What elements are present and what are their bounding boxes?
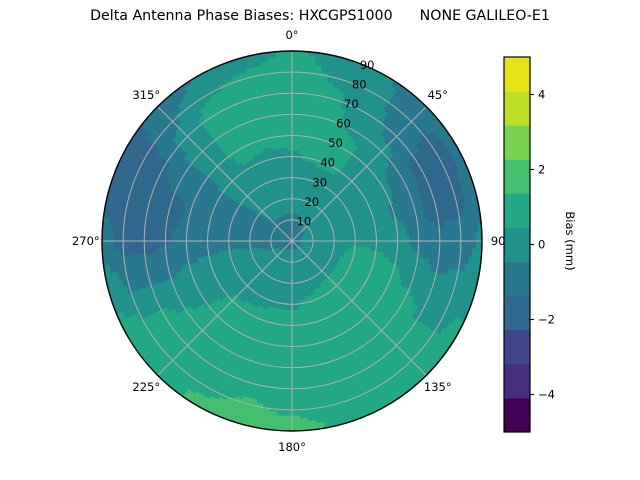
polar-cell xyxy=(470,233,473,241)
polar-cell xyxy=(289,316,292,319)
polar-cell xyxy=(286,383,292,386)
polar-cell xyxy=(286,374,292,377)
polar-cell xyxy=(473,241,476,249)
polar-cell xyxy=(370,241,373,245)
polar-cell xyxy=(292,334,296,337)
polar-cell xyxy=(292,78,299,81)
polar-cell xyxy=(379,241,382,245)
polar-cell xyxy=(443,241,446,248)
polar-cell xyxy=(406,236,409,241)
polar-cell xyxy=(292,117,297,120)
polar-cell xyxy=(292,60,300,63)
polar-cell xyxy=(288,340,292,343)
polar-cell xyxy=(391,241,394,245)
polar-cell xyxy=(292,340,296,343)
polar-cell xyxy=(286,380,292,383)
polar-cell xyxy=(287,359,292,362)
polar-cell xyxy=(413,236,416,241)
polar-cell xyxy=(284,422,292,425)
polar-cell xyxy=(449,234,452,241)
figure-canvas: Delta Antenna Phase Biases: HXCGPS1000 N… xyxy=(0,0,640,480)
polar-cell xyxy=(476,241,479,249)
polar-cell xyxy=(385,237,388,241)
polar-cell xyxy=(382,237,385,241)
polar-cell xyxy=(367,241,370,244)
polar-cell xyxy=(349,236,352,239)
polar-cell xyxy=(388,241,391,245)
polar-cell xyxy=(449,241,452,248)
polar-cell xyxy=(286,377,292,380)
polar-cell xyxy=(292,398,299,401)
polar-cell xyxy=(446,234,449,241)
polar-cell xyxy=(292,129,297,132)
polar-cell xyxy=(470,241,473,249)
polar-cell xyxy=(476,233,479,241)
polar-cell xyxy=(292,138,296,141)
polar-cell xyxy=(364,234,367,237)
polar-cell xyxy=(292,380,298,383)
polar-cell xyxy=(406,241,409,246)
polar-cell xyxy=(292,148,296,151)
polar-cell xyxy=(292,355,297,358)
polar-cell xyxy=(367,244,370,248)
polar-plot-svg: 0°45°90135°180°225°270°315° 102030405060… xyxy=(0,0,640,480)
polar-cell xyxy=(292,144,296,147)
polar-cell xyxy=(367,238,370,241)
polar-cell xyxy=(286,371,292,374)
polar-cell xyxy=(292,54,300,57)
polar-cell xyxy=(400,236,403,241)
polar-cell xyxy=(422,241,425,247)
polar-cell xyxy=(473,233,476,241)
polar-cell xyxy=(403,241,406,246)
polar-cell xyxy=(410,241,413,246)
polar-cell xyxy=(292,84,299,87)
polar-cell xyxy=(287,355,292,358)
polar-cell xyxy=(413,241,416,246)
polar-cell xyxy=(410,236,413,241)
polar-cell xyxy=(292,349,297,352)
polar-cell xyxy=(292,151,296,154)
polar-cell xyxy=(288,337,292,340)
polar-cell xyxy=(287,349,292,352)
polar-cell xyxy=(361,235,364,238)
polar-cell xyxy=(287,362,292,365)
polar-cell xyxy=(292,401,299,404)
polar-cell xyxy=(292,123,297,126)
polar-cell xyxy=(292,422,300,425)
polar-cell xyxy=(295,310,298,313)
polar-cell xyxy=(284,413,292,416)
polar-cell xyxy=(285,404,292,407)
polar-cell xyxy=(284,419,292,422)
polar-cell xyxy=(467,233,470,241)
polar-cell xyxy=(292,395,299,398)
polar-cell xyxy=(285,398,292,401)
polar-cell xyxy=(434,241,437,247)
polar-cell xyxy=(292,383,298,386)
polar-cell xyxy=(288,334,292,337)
polar-cell xyxy=(452,234,455,241)
figure-title: Delta Antenna Phase Biases: HXCGPS1000 N… xyxy=(0,8,640,24)
polar-cell xyxy=(288,319,292,322)
polar-cell xyxy=(455,234,458,241)
polar-cell xyxy=(379,237,382,241)
polar-cell xyxy=(292,163,295,166)
polar-cell xyxy=(285,395,292,398)
polar-cell xyxy=(367,234,370,238)
polar-cell xyxy=(292,99,298,102)
polar-cell xyxy=(292,374,298,377)
polar-cell xyxy=(285,401,292,404)
polar-cell xyxy=(292,328,296,331)
polar-cell xyxy=(464,241,467,249)
polar-cell xyxy=(292,377,298,380)
polar-cell xyxy=(292,160,296,163)
polar-cell xyxy=(292,108,298,111)
polar-cell xyxy=(284,425,292,428)
polar-cell xyxy=(292,66,300,69)
polar-cell xyxy=(292,392,299,395)
polar-cell xyxy=(292,75,299,78)
polar-cell xyxy=(295,316,299,319)
polar-cell xyxy=(431,241,434,247)
polar-cell xyxy=(285,316,289,319)
polar-cell xyxy=(292,141,296,144)
polar-cell xyxy=(455,241,458,248)
polar-cell xyxy=(292,319,296,322)
polar-cell xyxy=(467,241,470,249)
polar-cell xyxy=(464,233,467,241)
polar-cell xyxy=(292,371,298,374)
polar-cell xyxy=(292,316,295,319)
polar-cell xyxy=(434,235,437,241)
polar-cell xyxy=(292,120,297,123)
polar-cell xyxy=(425,235,428,241)
polar-cell xyxy=(370,237,373,241)
polar-cell xyxy=(292,359,297,362)
polar-cell xyxy=(446,241,449,248)
polar-cell xyxy=(292,425,300,428)
polar-cell xyxy=(294,298,297,301)
polar-cell xyxy=(295,313,298,316)
polar-cell xyxy=(292,105,298,108)
polar-cell xyxy=(292,331,296,334)
polar-cell xyxy=(400,241,403,246)
polar-cell xyxy=(391,237,394,241)
polar-cell xyxy=(382,241,385,245)
polar-cell xyxy=(388,237,391,241)
polar-cell xyxy=(288,331,292,334)
polar-cell xyxy=(428,241,431,247)
polar-cell xyxy=(284,416,292,419)
polar-cell xyxy=(292,419,300,422)
polar-cell xyxy=(292,352,297,355)
polar-cell xyxy=(431,235,434,241)
polar-cell xyxy=(422,235,425,241)
polar-cell xyxy=(452,241,455,248)
polar-cell xyxy=(358,235,361,238)
polar-cell xyxy=(292,337,296,340)
polar-cell xyxy=(285,392,292,395)
polar-cell xyxy=(288,328,292,331)
polar-cell xyxy=(428,235,431,241)
polar-cell xyxy=(292,102,298,105)
polar-cell xyxy=(295,163,299,166)
polar-cell xyxy=(292,96,298,99)
polar-cell xyxy=(292,87,299,90)
polar-cell xyxy=(292,404,299,407)
polar-cell xyxy=(292,57,300,60)
polar-cell xyxy=(292,416,300,419)
polar-cell xyxy=(295,307,298,310)
polar-cell xyxy=(292,81,299,84)
polar-cell xyxy=(425,241,428,247)
polar-cell xyxy=(292,362,297,365)
polar-cell xyxy=(292,63,300,66)
polar-cell xyxy=(403,236,406,241)
polar-cell xyxy=(292,413,300,416)
polar-cell xyxy=(287,352,292,355)
polar-cell xyxy=(443,234,446,241)
polar-cell xyxy=(292,126,297,129)
polar-cell xyxy=(385,241,388,245)
